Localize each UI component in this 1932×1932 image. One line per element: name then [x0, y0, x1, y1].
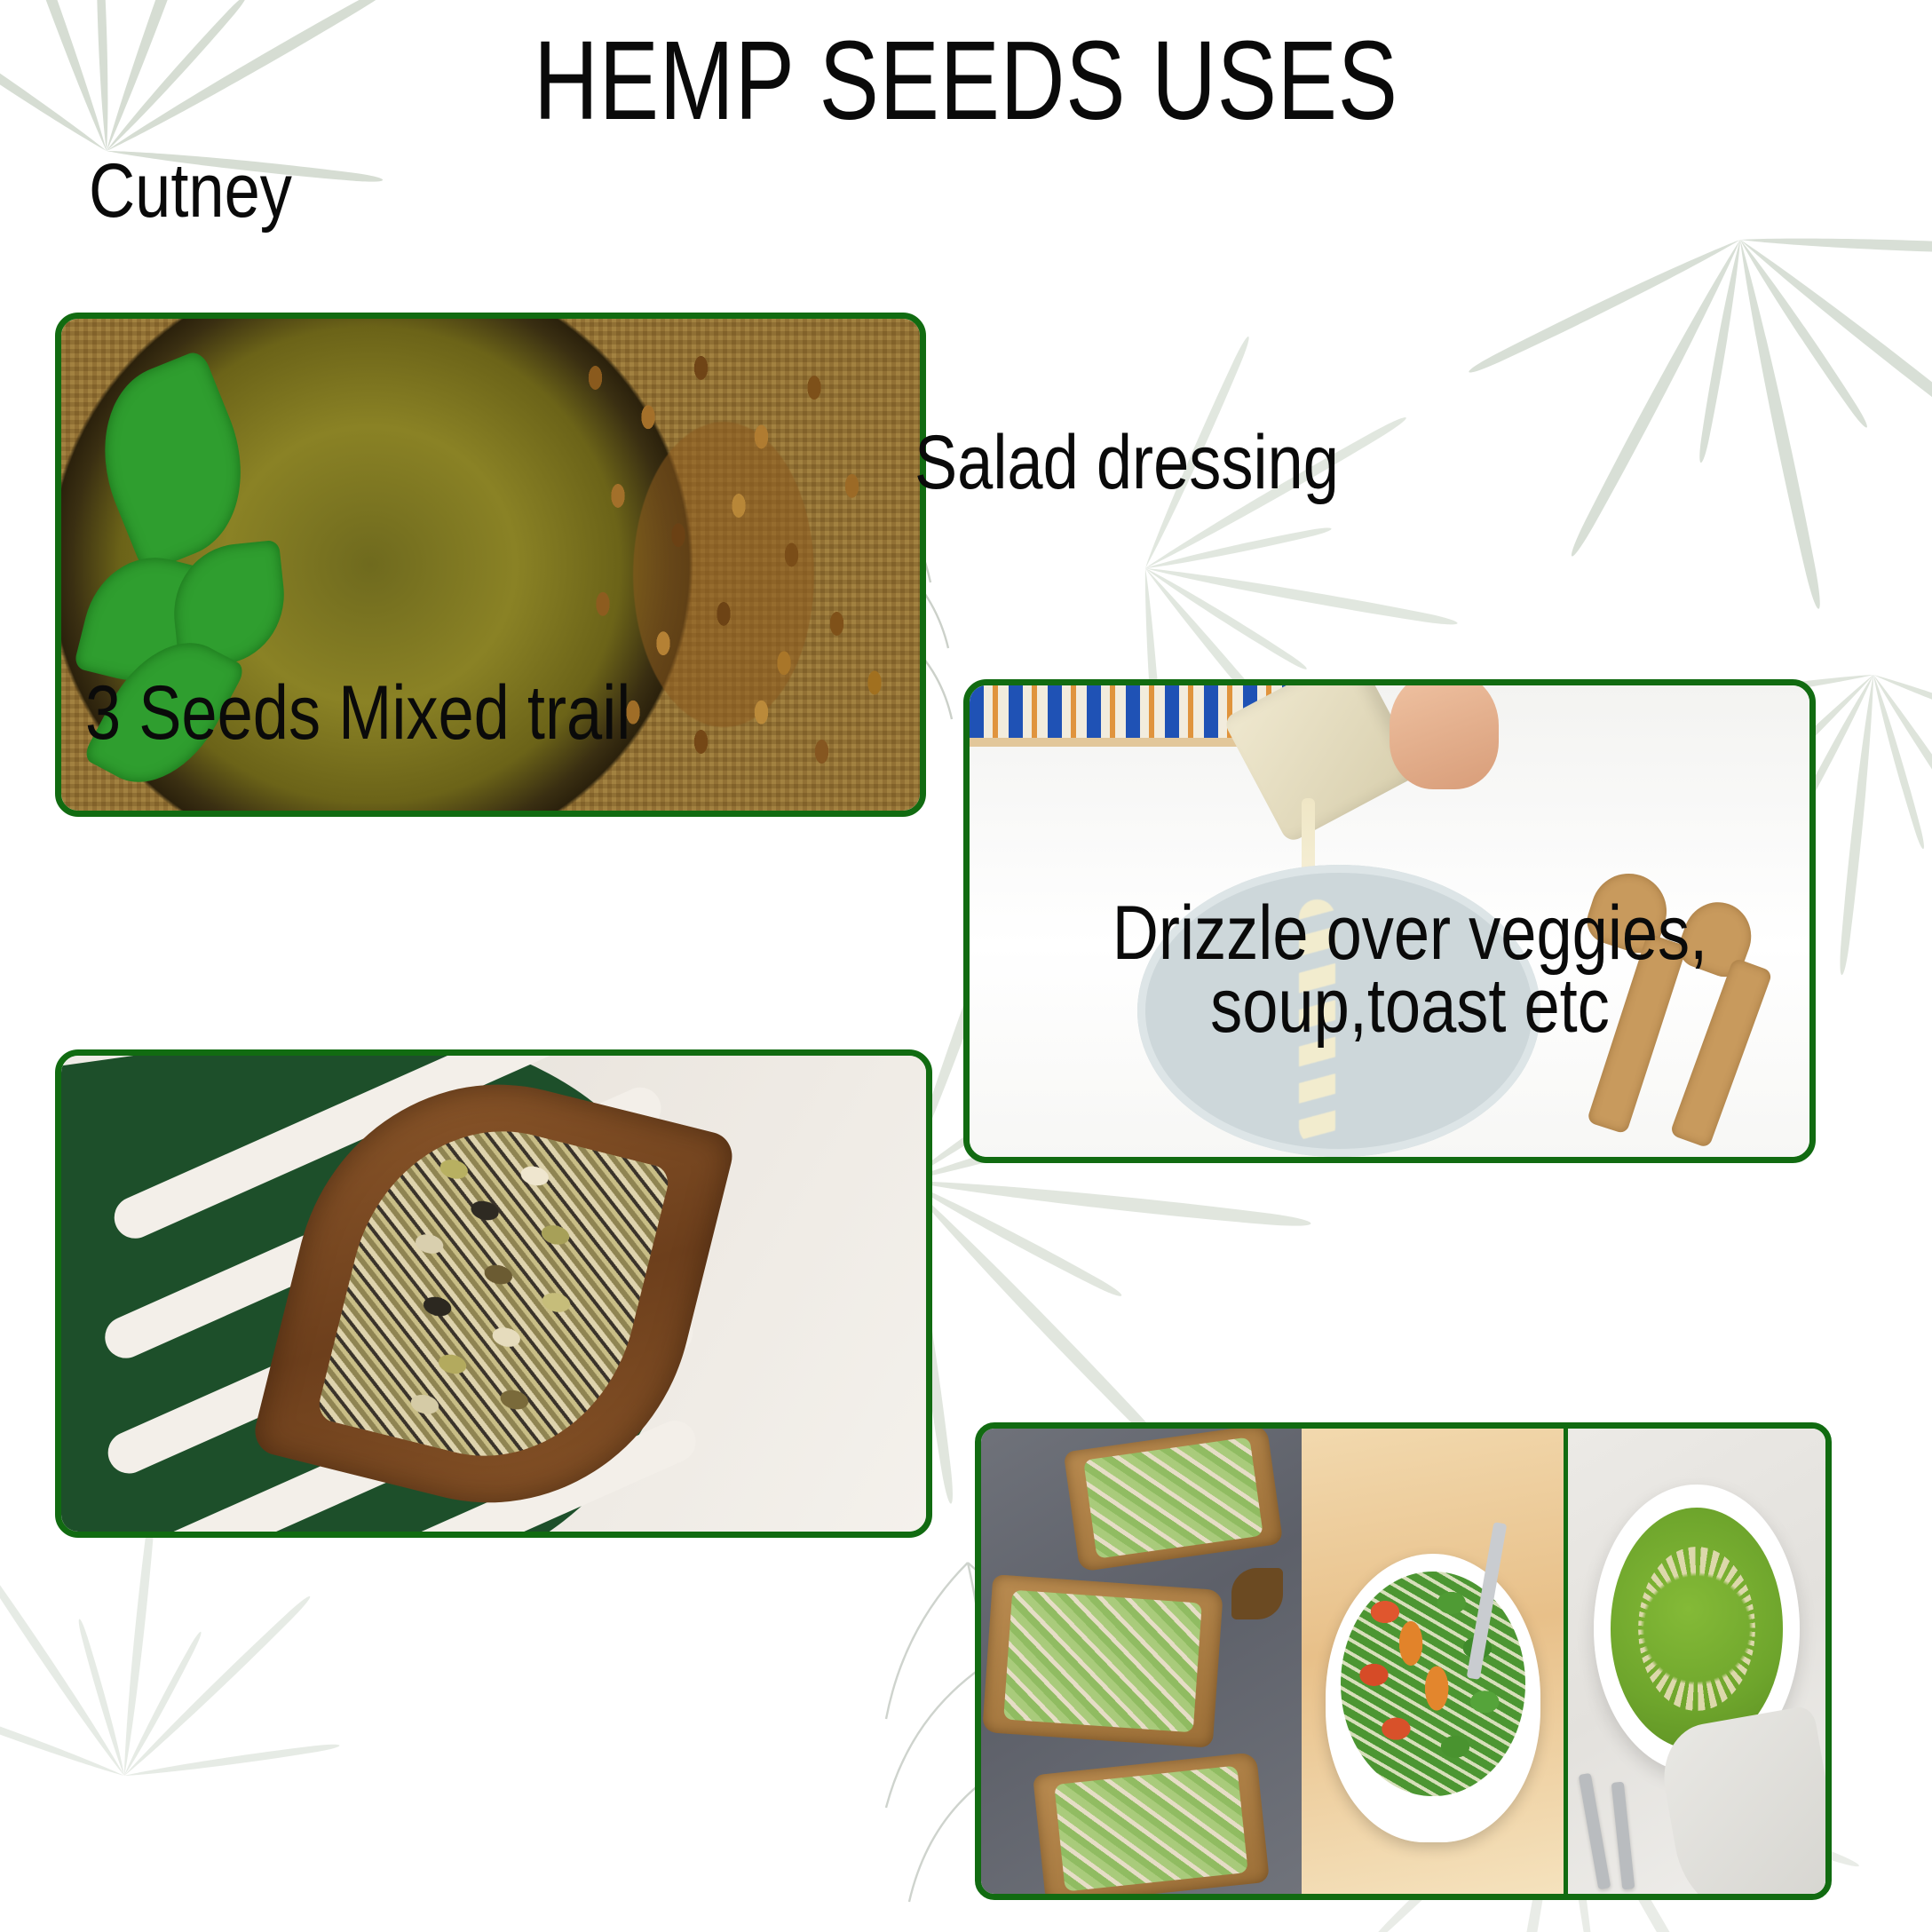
wooden-spoon-of-seeds: [1231, 1568, 1283, 1619]
salad-bowl: [1326, 1554, 1540, 1842]
page-title: HEMP SEEDS USES: [194, 25, 1739, 137]
toast-slice: [1033, 1752, 1270, 1894]
section-label-seeds-mixed-trail: 3 Seeds Mixed trail: [85, 675, 630, 753]
seeds-mixed-trail-photo: [61, 1056, 926, 1532]
veggie-salad-photo: [1302, 1429, 1564, 1894]
toast-slice: [982, 1574, 1223, 1748]
fork: [1611, 1782, 1635, 1889]
toast-slice: [1064, 1429, 1284, 1572]
avocado-toast-photo: [981, 1429, 1302, 1894]
hemp-seed-garnish: [1638, 1547, 1755, 1712]
mint-leaf-icon: [75, 349, 272, 574]
section-label-salad-dressing: Salad dressing: [915, 424, 1339, 503]
hand: [1390, 679, 1499, 789]
watermark-leaf-top-right: [1452, 173, 1932, 669]
photo-frame-drizzle-strip: [975, 1422, 1832, 1900]
photo-frame-seeds-mixed-trail: [55, 1049, 932, 1538]
spoon: [1579, 1772, 1611, 1889]
section-label-cutney: Cutney: [89, 153, 292, 231]
drizzle-image-strip: [981, 1429, 1825, 1894]
section-label-drizzle: Drizzle over veggies, soup,toast etc: [1044, 895, 1775, 1045]
mixed-seeds: [315, 1100, 672, 1486]
dressing-jar: [1223, 679, 1422, 844]
salad-contents: [1341, 1572, 1525, 1796]
drizzle-label-line2: soup,toast etc: [1044, 968, 1775, 1046]
green-soup-photo: [1564, 1429, 1825, 1894]
